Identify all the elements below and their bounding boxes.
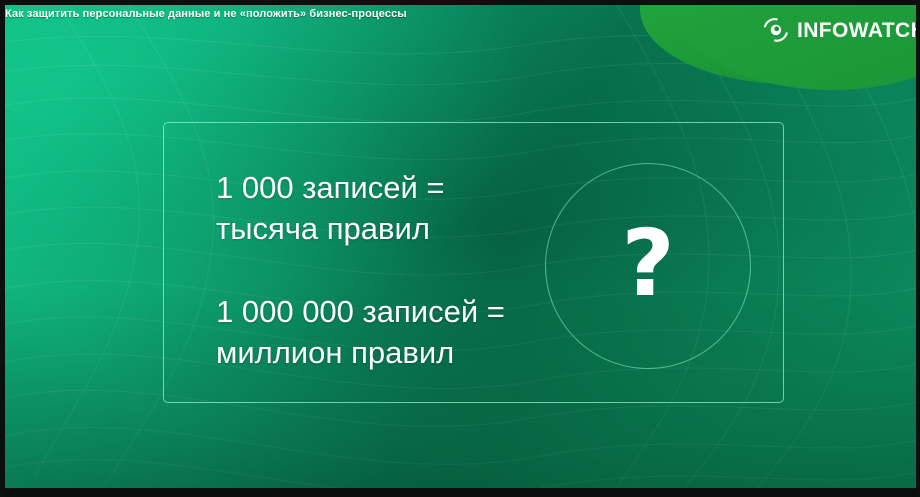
letterbox-bottom <box>0 488 920 497</box>
stats-text-column: 1 000 записей = тысяча правил 1 000 000 … <box>216 168 546 374</box>
brand-logo: INFOWATCH <box>761 15 920 45</box>
question-badge: ? <box>545 163 751 369</box>
stat-line-1a: 1 000 записей = <box>216 168 546 209</box>
stat-block-thousand: 1 000 записей = тысяча правил <box>216 168 546 250</box>
slide-viewport: Как защитить персональные данные и не «п… <box>0 0 920 497</box>
stat-line-2b: миллион правил <box>216 333 546 374</box>
stat-block-million: 1 000 000 записей = миллион правил <box>216 292 546 374</box>
letterbox-top <box>0 0 920 5</box>
letterbox-left <box>0 0 5 497</box>
question-mark-icon: ? <box>621 218 674 310</box>
page-title: Как защитить персональные данные и не «п… <box>5 8 407 20</box>
brand-name: INFOWATCH <box>797 20 920 41</box>
infowatch-eye-icon <box>761 15 791 45</box>
letterbox-right <box>916 0 920 497</box>
stat-line-2a: 1 000 000 записей = <box>216 292 546 333</box>
stat-line-1b: тысяча правил <box>216 209 546 250</box>
